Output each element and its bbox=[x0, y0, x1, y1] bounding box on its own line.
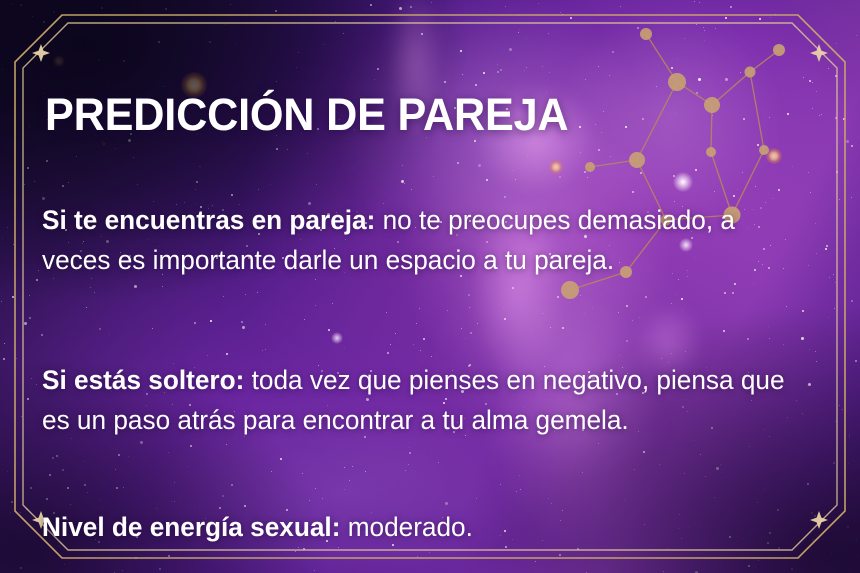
page-title: PREDICCIÓN DE PAREJA bbox=[45, 92, 568, 137]
prediction-card: PREDICCIÓN DE PAREJA Si te encuentras en… bbox=[0, 0, 860, 573]
paragraph-single-lead: Si estás soltero: bbox=[42, 365, 244, 395]
paragraph-energy: Nivel de energía sexual: moderado. bbox=[42, 507, 789, 547]
content-block: PREDICCIÓN DE PAREJA Si te encuentras en… bbox=[45, 0, 835, 573]
paragraph-energy-lead: Nivel de energía sexual: bbox=[42, 512, 340, 542]
paragraph-couple: Si te encuentras en pareja: no te preocu… bbox=[42, 200, 789, 280]
paragraph-energy-body: moderado. bbox=[340, 512, 472, 542]
paragraph-couple-lead: Si te encuentras en pareja: bbox=[42, 205, 375, 235]
paragraph-single: Si estás soltero: toda vez que pienses e… bbox=[42, 360, 789, 440]
